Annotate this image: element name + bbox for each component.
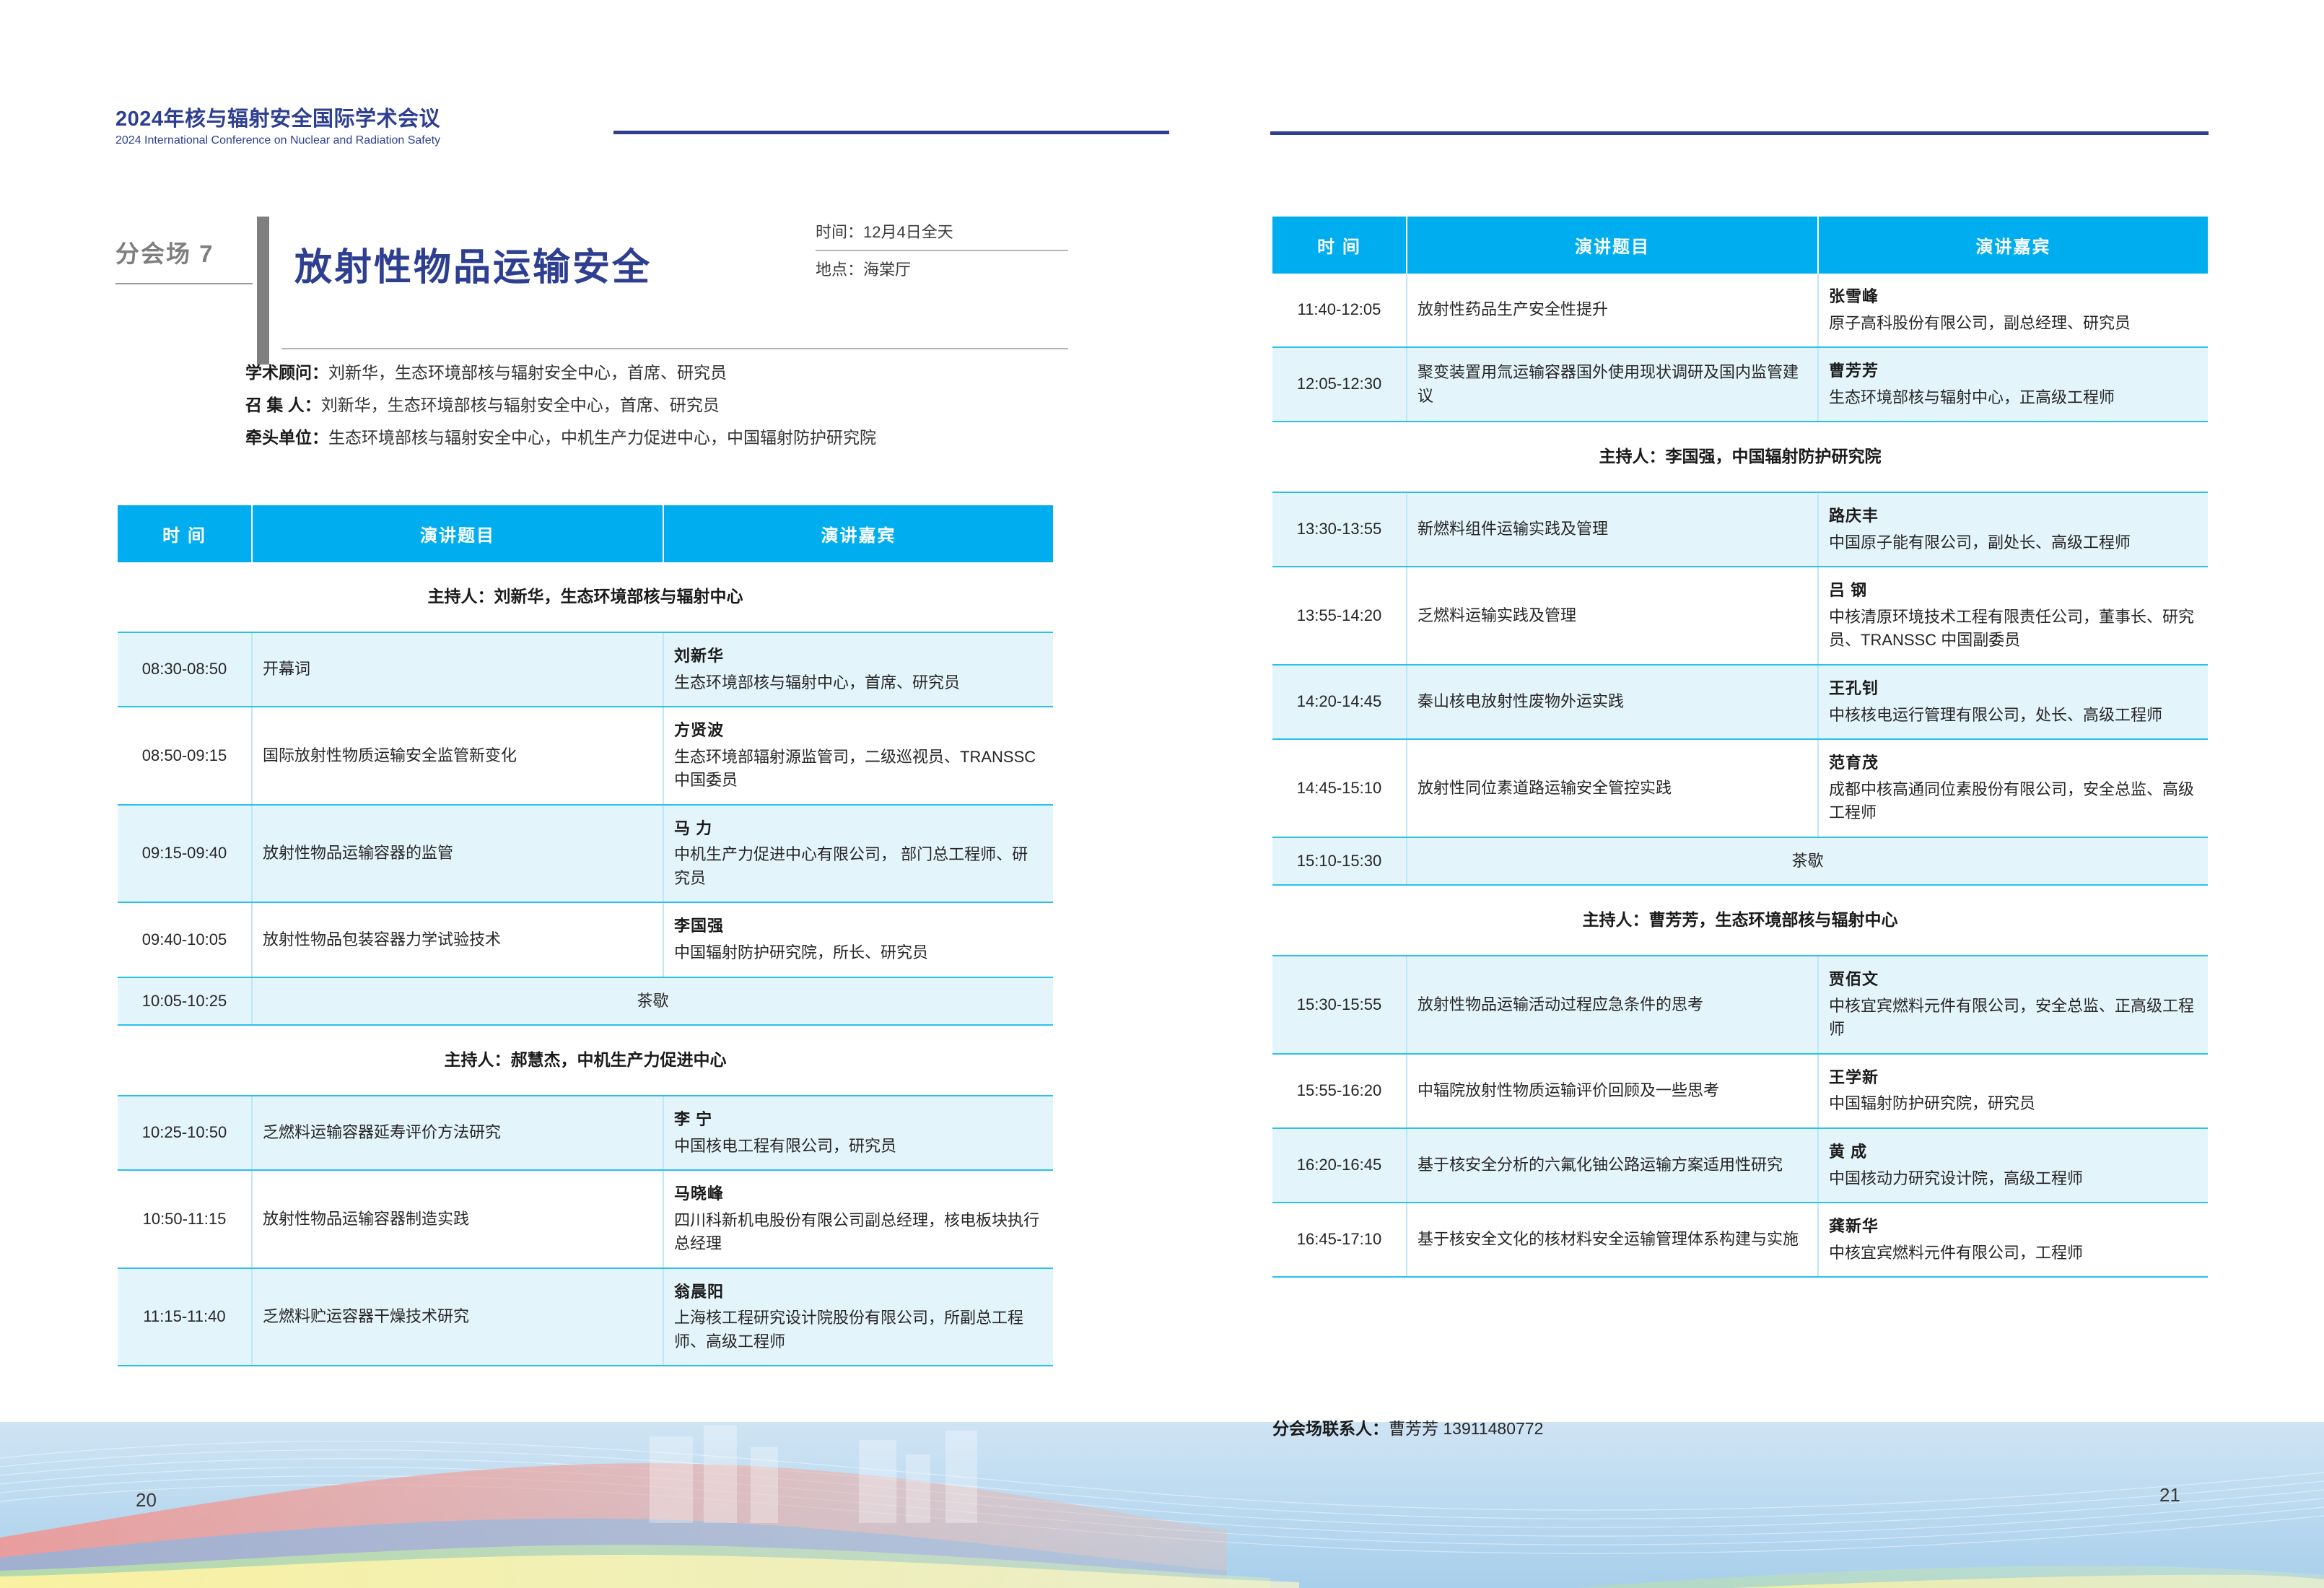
guest-name: 张雪峰: [1829, 285, 2198, 309]
cell-guest: 王学新中国辐射防护研究院，研究员: [1818, 1054, 2208, 1128]
session-title-block: 分会场 7 放射性物品运输安全 时间：12月4日全天 地点：海棠厅: [115, 217, 1068, 365]
session-time: 时间：12月4日全天: [816, 214, 1068, 250]
cell-time: 10:25-10:50: [118, 1096, 252, 1170]
cell-topic: 放射性物品运输容器的监管: [252, 805, 663, 903]
table-row: 15:10-15:30茶歇: [1272, 837, 2208, 886]
cell-time: 09:15-09:40: [118, 805, 252, 903]
page-left: 2024年核与辐射安全国际学术会议 2024 International Con…: [0, 0, 1162, 1588]
session-info-block: 学术顾问：刘新华，生态环境部核与辐射安全中心，首席、研究员 召 集 人：刘新华，…: [245, 365, 1068, 462]
guest-affiliation: 中核宜宾燃料元件有限公司，工程师: [1829, 1242, 2198, 1265]
cell-time: 15:55-16:20: [1272, 1054, 1407, 1128]
guest-affiliation: 中核宜宾燃料元件有限公司，安全总监、正高级工程师: [1829, 995, 2198, 1042]
cell-topic: 乏燃料运输容器延寿评价方法研究: [252, 1096, 663, 1170]
table-row: 10:25-10:50乏燃料运输容器延寿评价方法研究李 宁中国核电工程有限公司，…: [118, 1096, 1053, 1170]
table-row: 13:30-13:55新燃料组件运输实践及管理路庆丰中国原子能有限公司，副处长、…: [1272, 492, 2208, 567]
cell-time: 16:45-17:10: [1272, 1203, 1407, 1277]
guest-affiliation: 中核核电运行管理有限公司，处长、高级工程师: [1829, 704, 2198, 728]
cell-topic: 乏燃料运输实践及管理: [1407, 567, 1818, 665]
table-row: 09:15-09:40放射性物品运输容器的监管马 力中机生产力促进中心有限公司，…: [118, 805, 1053, 903]
contact-value: 曹芳芳 13911480772: [1389, 1419, 1543, 1438]
column-header-time: 时 间: [1272, 217, 1407, 274]
info-value: 刘新华，生态环境部核与辐射安全中心，首席、研究员: [321, 396, 720, 414]
table-row: 16:20-16:45基于核安全分析的六氟化铀公路运输方案适用性研究黄 成中国核…: [1272, 1128, 2208, 1203]
cell-guest: 龚新华中核宜宾燃料元件有限公司，工程师: [1818, 1203, 2208, 1277]
cell-time: 12:05-12:30: [1272, 347, 1407, 422]
guest-name: 路庆丰: [1829, 505, 2198, 528]
cell-time: 09:40-10:05: [118, 902, 252, 977]
cell-topic: 放射性物品运输活动过程应急条件的思考: [1407, 956, 1818, 1054]
guest-affiliation: 中国核动力研究设计院，高级工程师: [1829, 1167, 2198, 1191]
cell-guest: 马晓峰四川科新机电股份有限公司副总经理，核电板块执行总经理: [663, 1170, 1053, 1268]
schedule-body-right: 11:40-12:05放射性药品生产安全性提升张雪峰原子高科股份有限公司，副总经…: [1272, 274, 2208, 1277]
table-row: 14:20-14:45秦山核电放射性废物外运实践王孔钊中核核电运行管理有限公司，…: [1272, 665, 2208, 739]
cell-topic: 聚变装置用氚运输容器国外使用现状调研及国内监管建议: [1407, 347, 1818, 422]
table-row: 15:55-16:20中辐院放射性物质运输评价回顾及一些思考王学新中国辐射防护研…: [1272, 1054, 2208, 1128]
guest-name: 李 宁: [674, 1108, 1043, 1132]
cell-topic: 基于核安全分析的六氟化铀公路运输方案适用性研究: [1407, 1128, 1818, 1203]
cell-guest: 吕 钢中核清原环境技术工程有限责任公司，董事长、研究员、TRANSSC 中国副委…: [1818, 567, 2208, 665]
guest-affiliation: 四川科新机电股份有限公司副总经理，核电板块执行总经理: [674, 1209, 1043, 1256]
cell-topic: 基于核安全文化的核材料安全运输管理体系构建与实施: [1407, 1203, 1818, 1277]
running-head: 2024年核与辐射安全国际学术会议 2024 International Con…: [115, 108, 1054, 148]
guest-affiliation: 中国原子能有限公司，副处长、高级工程师: [1829, 531, 2198, 555]
guest-name: 王学新: [1829, 1066, 2198, 1090]
column-header-guest: 演讲嘉宾: [663, 505, 1053, 562]
table-row: 08:30-08:50开幕词刘新华生态环境部核与辐射中心，首席、研究员: [118, 632, 1053, 707]
table-header-row: 时 间 演讲题目 演讲嘉宾: [1272, 217, 2208, 274]
guest-affiliation: 生态环境部核与辐射中心，首席、研究员: [674, 671, 1043, 695]
session-chair-label: 主持人：郝慧杰，中机生产力促进中心: [118, 1025, 1053, 1096]
info-value: 刘新华，生态环境部核与辐射安全中心，首席、研究员: [328, 363, 727, 382]
cell-guest: 李国强中国辐射防护研究院，所长、研究员: [663, 902, 1053, 977]
table-row: 15:30-15:55放射性物品运输活动过程应急条件的思考贾佰文中核宜宾燃料元件…: [1272, 956, 2208, 1054]
column-header-topic: 演讲题目: [1407, 217, 1818, 274]
guest-affiliation: 中国核电工程有限公司，研究员: [674, 1135, 1043, 1159]
guest-affiliation: 中国辐射防护研究院，所长、研究员: [674, 941, 1043, 965]
page-number-left: 20: [136, 1489, 157, 1511]
session-chair-row: 主持人：刘新华，生态环境部核与辐射中心: [118, 562, 1053, 632]
guest-affiliation: 中国辐射防护研究院，研究员: [1829, 1092, 2198, 1116]
cell-guest: 王孔钊中核核电运行管理有限公司，处长、高级工程师: [1818, 665, 2208, 739]
cell-break-label: 茶歇: [252, 977, 1053, 1026]
contact-line: 分会场联系人：曹芳芳 13911480772: [1272, 1415, 1543, 1439]
info-value: 生态环境部核与辐射安全中心，中机生产力促进中心，中国辐射防护研究院: [328, 428, 876, 447]
session-chair-label: 主持人：曹芳芳，生态环境部核与辐射中心: [1272, 885, 2208, 956]
table-header-row: 时 间 演讲题目 演讲嘉宾: [118, 505, 1053, 562]
cell-time: 16:20-16:45: [1272, 1128, 1407, 1203]
cell-time: 10:50-11:15: [118, 1170, 252, 1268]
column-header-time: 时 间: [118, 505, 252, 562]
schedule-table-left: 时 间 演讲题目 演讲嘉宾 主持人：刘新华，生态环境部核与辐射中心08:30-0…: [118, 505, 1053, 1366]
cell-guest: 李 宁中国核电工程有限公司，研究员: [663, 1096, 1053, 1170]
table-row: 12:05-12:30聚变装置用氚运输容器国外使用现状调研及国内监管建议曹芳芳生…: [1272, 347, 2208, 422]
guest-affiliation: 中机生产力促进中心有限公司， 部门总工程师、研究员: [674, 843, 1043, 890]
page-title: 放射性物品运输安全: [294, 237, 652, 291]
cell-time: 14:20-14:45: [1272, 665, 1407, 739]
guest-name: 李国强: [674, 915, 1043, 938]
venue-label: 分会场 7: [115, 235, 242, 269]
contact-key: 分会场联系人：: [1272, 1419, 1389, 1438]
cell-time: 15:30-15:55: [1272, 956, 1407, 1054]
guest-name: 刘新华: [674, 645, 1043, 668]
guest-name: 马 力: [674, 817, 1043, 841]
guest-name: 马晓峰: [674, 1182, 1043, 1206]
guest-affiliation: 原子高科股份有限公司，副总经理、研究员: [1829, 312, 2198, 336]
info-key: 学术顾问：: [245, 363, 328, 382]
column-header-topic: 演讲题目: [252, 505, 663, 562]
info-key: 召 集 人：: [245, 396, 321, 414]
cell-time: 15:10-15:30: [1272, 837, 1407, 886]
table-row: 10:50-11:15放射性物品运输容器制造实践马晓峰四川科新机电股份有限公司副…: [118, 1170, 1053, 1268]
column-header-guest: 演讲嘉宾: [1818, 217, 2208, 274]
title-underline: [281, 348, 1068, 349]
running-head-rule-right: [1270, 131, 2209, 135]
cell-time: 13:55-14:20: [1272, 567, 1407, 665]
running-head-rule: [613, 131, 1169, 134]
cell-guest: 路庆丰中国原子能有限公司，副处长、高级工程师: [1818, 492, 2208, 567]
table-row: 08:50-09:15国际放射性物质运输安全监管新变化方贤波生态环境部辐射源监管…: [118, 707, 1053, 805]
cell-topic: 放射性药品生产安全性提升: [1407, 274, 1818, 347]
cell-guest: 方贤波生态环境部辐射源监管司，二级巡视员、TRANSSC中国委员: [663, 707, 1053, 805]
running-head-title-cn: 2024年核与辐射安全国际学术会议: [115, 108, 1054, 131]
table-row: 16:45-17:10基于核安全文化的核材料安全运输管理体系构建与实施龚新华中核…: [1272, 1203, 2208, 1277]
cell-guest: 范育茂成都中核高通同位素股份有限公司，安全总监、高级工程师: [1818, 739, 2208, 837]
table-row: 14:45-15:10放射性同位素道路运输安全管控实践范育茂成都中核高通同位素股…: [1272, 739, 2208, 837]
cell-guest: 贾佰文中核宜宾燃料元件有限公司，安全总监、正高级工程师: [1818, 956, 2208, 1054]
cell-guest: 刘新华生态环境部核与辐射中心，首席、研究员: [663, 632, 1053, 707]
session-chair-row: 主持人：曹芳芳，生态环境部核与辐射中心: [1272, 885, 2208, 956]
schedule-body-left: 主持人：刘新华，生态环境部核与辐射中心08:30-08:50开幕词刘新华生态环境…: [118, 562, 1053, 1366]
session-meta: 时间：12月4日全天 地点：海棠厅: [816, 214, 1068, 287]
info-line: 召 集 人：刘新华，生态环境部核与辐射安全中心，首席、研究员: [245, 397, 1068, 414]
cell-time: 10:05-10:25: [118, 977, 252, 1026]
guest-name: 范育茂: [1829, 751, 2198, 775]
cell-guest: 曹芳芳生态环境部核与辐射中心，正高级工程师: [1818, 347, 2208, 422]
cell-guest: 马 力中机生产力促进中心有限公司， 部门总工程师、研究员: [663, 805, 1053, 903]
guest-affiliation: 生态环境部辐射源监管司，二级巡视员、TRANSSC中国委员: [674, 746, 1043, 793]
cell-topic: 秦山核电放射性废物外运实践: [1407, 665, 1818, 739]
cell-time: 08:30-08:50: [118, 632, 252, 707]
venue-underline: [115, 283, 253, 284]
cell-topic: 乏燃料贮运容器干燥技术研究: [252, 1268, 663, 1366]
cell-topic: 新燃料组件运输实践及管理: [1407, 492, 1818, 567]
guest-name: 翁晨阳: [674, 1281, 1043, 1304]
session-chair-row: 主持人：李国强，中国辐射防护研究院: [1272, 422, 2208, 492]
table-row: 13:55-14:20乏燃料运输实践及管理吕 钢中核清原环境技术工程有限责任公司…: [1272, 567, 2208, 665]
cell-topic: 放射性同位素道路运输安全管控实践: [1407, 739, 1818, 837]
cell-topic: 放射性物品包装容器力学试验技术: [252, 902, 663, 977]
info-line: 牵头单位：生态环境部核与辐射安全中心，中机生产力促进中心，中国辐射防护研究院: [245, 429, 1068, 446]
cell-time: 13:30-13:55: [1272, 492, 1407, 567]
table-row: 10:05-10:25茶歇: [118, 977, 1053, 1026]
cell-topic: 放射性物品运输容器制造实践: [252, 1170, 663, 1268]
cell-guest: 黄 成中国核动力研究设计院，高级工程师: [1818, 1128, 2208, 1203]
guest-affiliation: 中核清原环境技术工程有限责任公司，董事长、研究员、TRANSSC 中国副委员: [1829, 606, 2198, 653]
guest-affiliation: 成都中核高通同位素股份有限公司，安全总监、高级工程师: [1829, 778, 2198, 825]
guest-name: 黄 成: [1829, 1140, 2198, 1164]
table-row: 11:15-11:40乏燃料贮运容器干燥技术研究翁晨阳上海核工程研究设计院股份有…: [118, 1268, 1053, 1366]
cell-guest: 翁晨阳上海核工程研究设计院股份有限公司，所副总工程师、高级工程师: [663, 1268, 1053, 1366]
cell-topic: 开幕词: [252, 632, 663, 707]
guest-affiliation: 生态环境部核与辐射中心，正高级工程师: [1829, 386, 2198, 410]
guest-name: 龚新华: [1829, 1215, 2198, 1239]
cell-topic: 国际放射性物质运输安全监管新变化: [252, 707, 663, 805]
cell-topic: 中辐院放射性物质运输评价回顾及一些思考: [1407, 1054, 1818, 1128]
running-head-title-en: 2024 International Conference on Nuclear…: [115, 134, 1054, 148]
session-place: 地点：海棠厅: [816, 251, 1068, 287]
guest-name: 贾佰文: [1829, 968, 2198, 992]
session-chair-label: 主持人：李国强，中国辐射防护研究院: [1272, 422, 2208, 492]
page-number-right: 21: [2159, 1484, 2180, 1506]
schedule-table-right: 时 间 演讲题目 演讲嘉宾 11:40-12:05放射性药品生产安全性提升张雪峰…: [1272, 217, 2208, 1278]
table-row: 11:40-12:05放射性药品生产安全性提升张雪峰原子高科股份有限公司，副总经…: [1272, 274, 2208, 347]
cell-guest: 张雪峰原子高科股份有限公司，副总经理、研究员: [1818, 274, 2208, 347]
cell-time: 14:45-15:10: [1272, 739, 1407, 837]
guest-name: 王孔钊: [1829, 677, 2198, 701]
guest-name: 曹芳芳: [1829, 359, 2198, 383]
guest-name: 方贤波: [674, 719, 1043, 743]
table-row: 09:40-10:05放射性物品包装容器力学试验技术李国强中国辐射防护研究院，所…: [118, 902, 1053, 977]
guest-affiliation: 上海核工程研究设计院股份有限公司，所副总工程师、高级工程师: [674, 1306, 1043, 1353]
guest-name: 吕 钢: [1829, 579, 2198, 603]
title-accent-bar: [257, 217, 269, 365]
cell-break-label: 茶歇: [1407, 837, 2208, 886]
info-line: 学术顾问：刘新华，生态环境部核与辐射安全中心，首席、研究员: [245, 365, 1068, 381]
session-chair-label: 主持人：刘新华，生态环境部核与辐射中心: [118, 562, 1053, 632]
session-chair-row: 主持人：郝慧杰，中机生产力促进中心: [118, 1025, 1053, 1096]
info-key: 牵头单位：: [245, 428, 328, 447]
cell-time: 11:40-12:05: [1272, 274, 1407, 347]
cell-time: 08:50-09:15: [118, 707, 252, 805]
cell-time: 11:15-11:40: [118, 1268, 252, 1366]
